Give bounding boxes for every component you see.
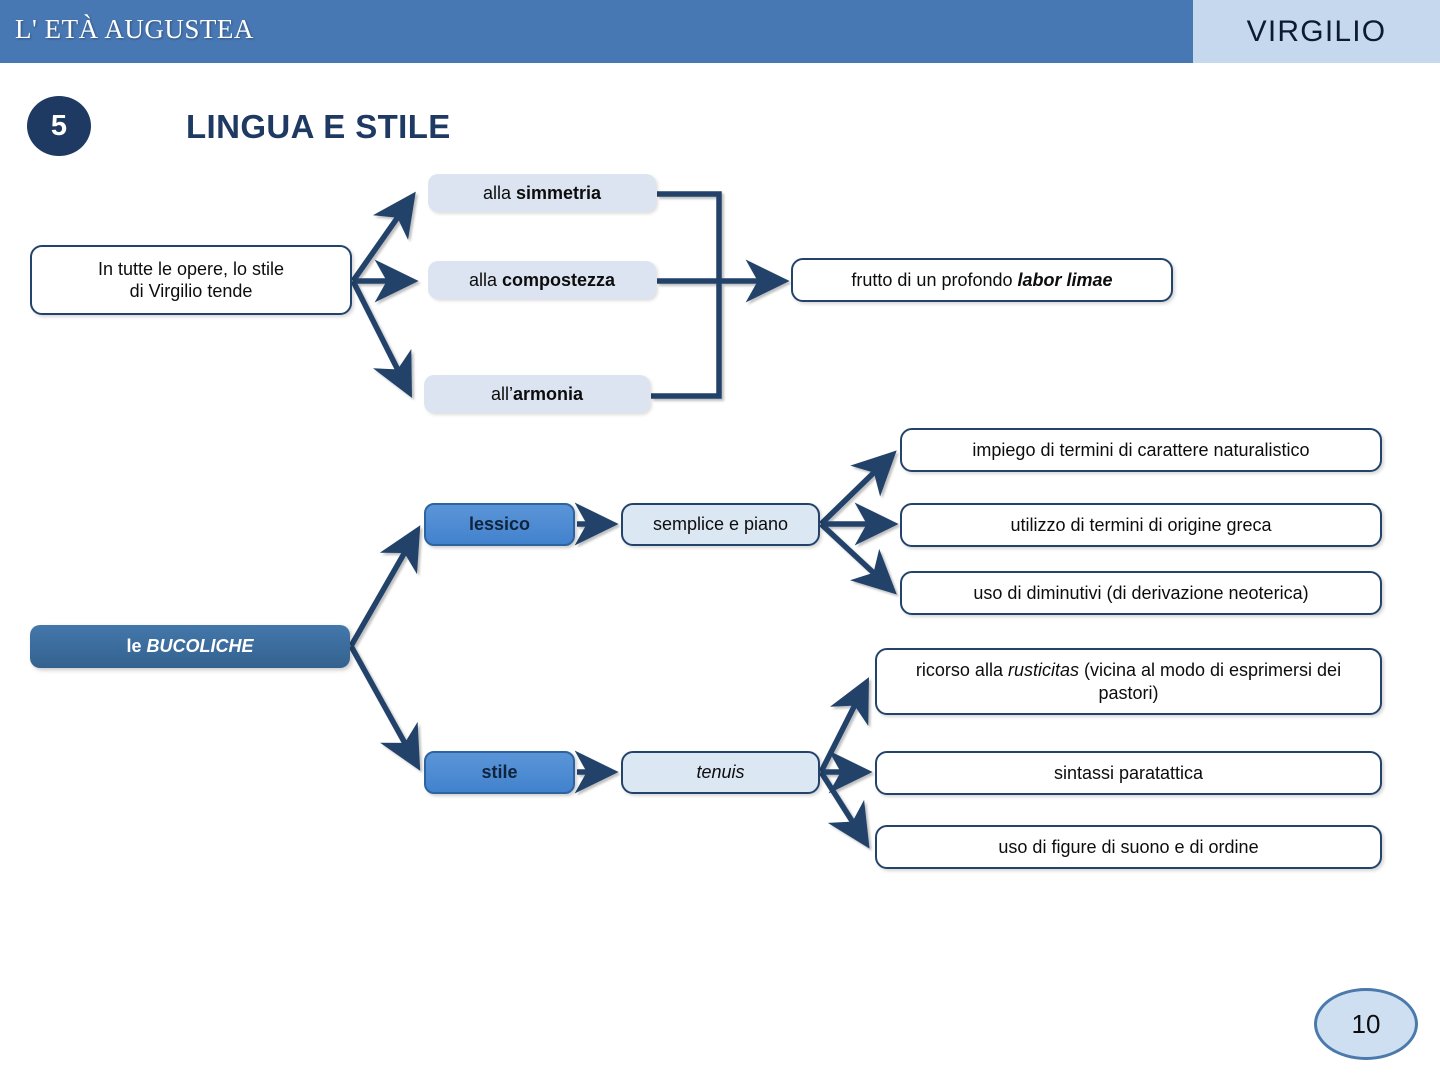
branch-prefix: all’ <box>491 384 513 404</box>
root-line-1: In tutte le opere, lo stile <box>98 259 284 279</box>
diagram-two-branch-stile: stile <box>424 751 575 794</box>
detail-italic: rusticitas <box>1008 660 1079 680</box>
diagram-two-root-box: le BUCOLICHE <box>30 625 350 668</box>
detail-text: impiego di termini di carattere naturali… <box>958 439 1323 462</box>
root-line-2: di Virgilio tende <box>130 281 253 301</box>
detail-text: uso di diminutivi (di derivazione neoter… <box>959 582 1322 605</box>
branch-label: stile <box>467 761 531 784</box>
detail-text: sintassi paratattica <box>1040 762 1217 785</box>
header-bar-left: L' ETÀ AUGUSTEA <box>0 0 1193 63</box>
diagram-one-root-text: In tutte le opere, lo stile di Virgilio … <box>84 258 298 303</box>
detail-text: utilizzo di termini di origine greca <box>996 514 1285 537</box>
diagram-one-branch-compostezza: alla compostezza <box>428 261 656 299</box>
header-bar-right: VIRGILIO <box>1193 0 1440 63</box>
branch-keyword: compostezza <box>502 270 615 290</box>
diagram-two-qualifier-lessico: semplice e piano <box>621 503 820 546</box>
diagram-two-detail-stile-1: ricorso alla rusticitas (vicina al modo … <box>875 648 1382 715</box>
branch-keyword: simmetria <box>516 183 601 203</box>
diagram-two-detail-stile-2: sintassi paratattica <box>875 751 1382 795</box>
branch-label: lessico <box>455 513 544 536</box>
diagram-one-branch-armonia: all’armonia <box>424 375 650 413</box>
header-right-title: VIRGILIO <box>1193 0 1440 63</box>
diagram-one-result-box: frutto di un profondo labor limae <box>791 258 1173 302</box>
diagram-two-detail-lessico-2: utilizzo di termini di origine greca <box>900 503 1382 547</box>
diagram-one-branch-simmetria: alla simmetria <box>428 174 656 212</box>
page-title: LINGUA E STILE <box>186 108 451 146</box>
header-left-title: L' ETÀ AUGUSTEA <box>15 14 254 45</box>
result-prefix: frutto di un profondo <box>851 270 1017 290</box>
detail-post: (vicina al modo di esprimersi dei pastor… <box>1079 660 1341 703</box>
slide-canvas: L' ETÀ AUGUSTEA VIRGILIO 5 LINGUA E STIL… <box>0 0 1440 1080</box>
root-prefix: le <box>126 636 146 656</box>
branch-prefix: alla <box>483 183 516 203</box>
branch-keyword: armonia <box>513 384 583 404</box>
diagram-two-detail-stile-3: uso di figure di suono e di ordine <box>875 825 1382 869</box>
diagram-two-qualifier-stile: tenuis <box>621 751 820 794</box>
detail-text: uso di figure di suono e di ordine <box>984 836 1272 859</box>
diagram-two-branch-lessico: lessico <box>424 503 575 546</box>
root-keyword: BUCOLICHE <box>147 636 254 656</box>
detail-pre: ricorso alla <box>916 660 1008 680</box>
section-number-badge: 5 <box>27 96 91 156</box>
branch-prefix: alla <box>469 270 502 290</box>
qualifier-label: semplice e piano <box>639 513 802 536</box>
result-keyword: labor limae <box>1018 270 1113 290</box>
qualifier-label: tenuis <box>696 762 744 782</box>
page-number-badge: 10 <box>1314 988 1418 1060</box>
diagram-two-detail-lessico-3: uso di diminutivi (di derivazione neoter… <box>900 571 1382 615</box>
diagram-one-root-box: In tutte le opere, lo stile di Virgilio … <box>30 245 352 315</box>
diagram-two-detail-lessico-1: impiego di termini di carattere naturali… <box>900 428 1382 472</box>
